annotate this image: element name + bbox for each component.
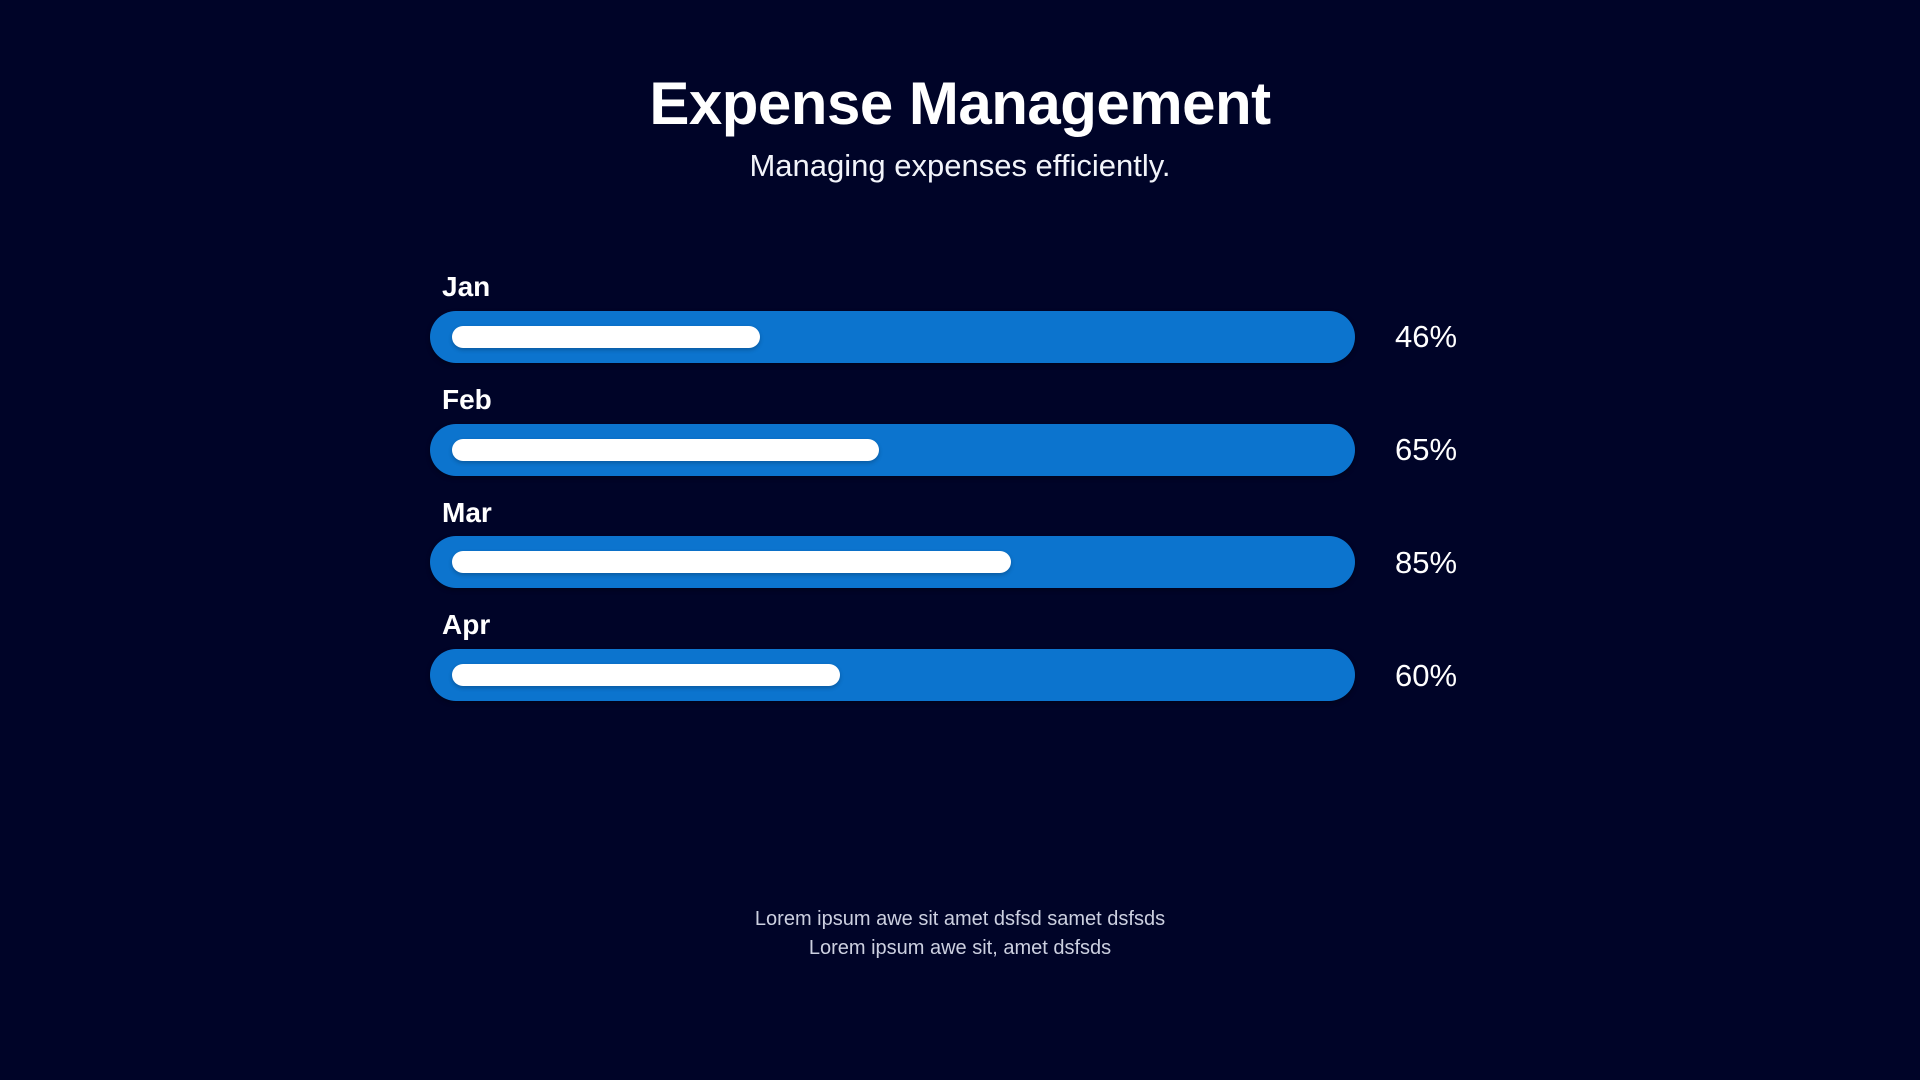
progress-track-feb[interactable]: [430, 424, 1355, 476]
progress-fill-apr: [452, 664, 840, 686]
progress-fill-mar: [452, 551, 1011, 573]
bar-label-feb: Feb: [442, 385, 1490, 416]
bar-line: 65%: [430, 424, 1490, 476]
chart-row: Feb 65%: [430, 385, 1490, 476]
value-label-feb: 65%: [1395, 434, 1457, 465]
progress-track-apr[interactable]: [430, 649, 1355, 701]
bar-label-jan: Jan: [442, 272, 1490, 303]
progress-fill-jan: [452, 326, 760, 348]
bar-line: 46%: [430, 311, 1490, 363]
value-label-apr: 60%: [1395, 660, 1457, 691]
progress-fill-feb: [452, 439, 879, 461]
slide-header: Expense Management Managing expenses eff…: [0, 72, 1920, 184]
slide-footer: Lorem ipsum awe sit amet dsfsd samet dsf…: [0, 905, 1920, 963]
footer-line-1: Lorem ipsum awe sit amet dsfsd samet dsf…: [0, 905, 1920, 934]
bar-label-apr: Apr: [442, 610, 1490, 641]
page-subtitle: Managing expenses efficiently.: [0, 147, 1920, 184]
bar-line: 60%: [430, 649, 1490, 701]
chart-row: Jan 46%: [430, 272, 1490, 363]
footer-line-2: Lorem ipsum awe sit, amet dsfsds: [0, 934, 1920, 963]
progress-track-jan[interactable]: [430, 311, 1355, 363]
chart-row: Apr 60%: [430, 610, 1490, 701]
value-label-mar: 85%: [1395, 547, 1457, 578]
progress-bar-chart: Jan 46% Feb 65% Mar: [430, 272, 1490, 723]
slide-canvas: Expense Management Managing expenses eff…: [0, 0, 1920, 1080]
bar-label-mar: Mar: [442, 498, 1490, 529]
progress-track-mar[interactable]: [430, 536, 1355, 588]
bar-line: 85%: [430, 536, 1490, 588]
page-title: Expense Management: [0, 72, 1920, 137]
chart-row: Mar 85%: [430, 498, 1490, 589]
value-label-jan: 46%: [1395, 321, 1457, 352]
